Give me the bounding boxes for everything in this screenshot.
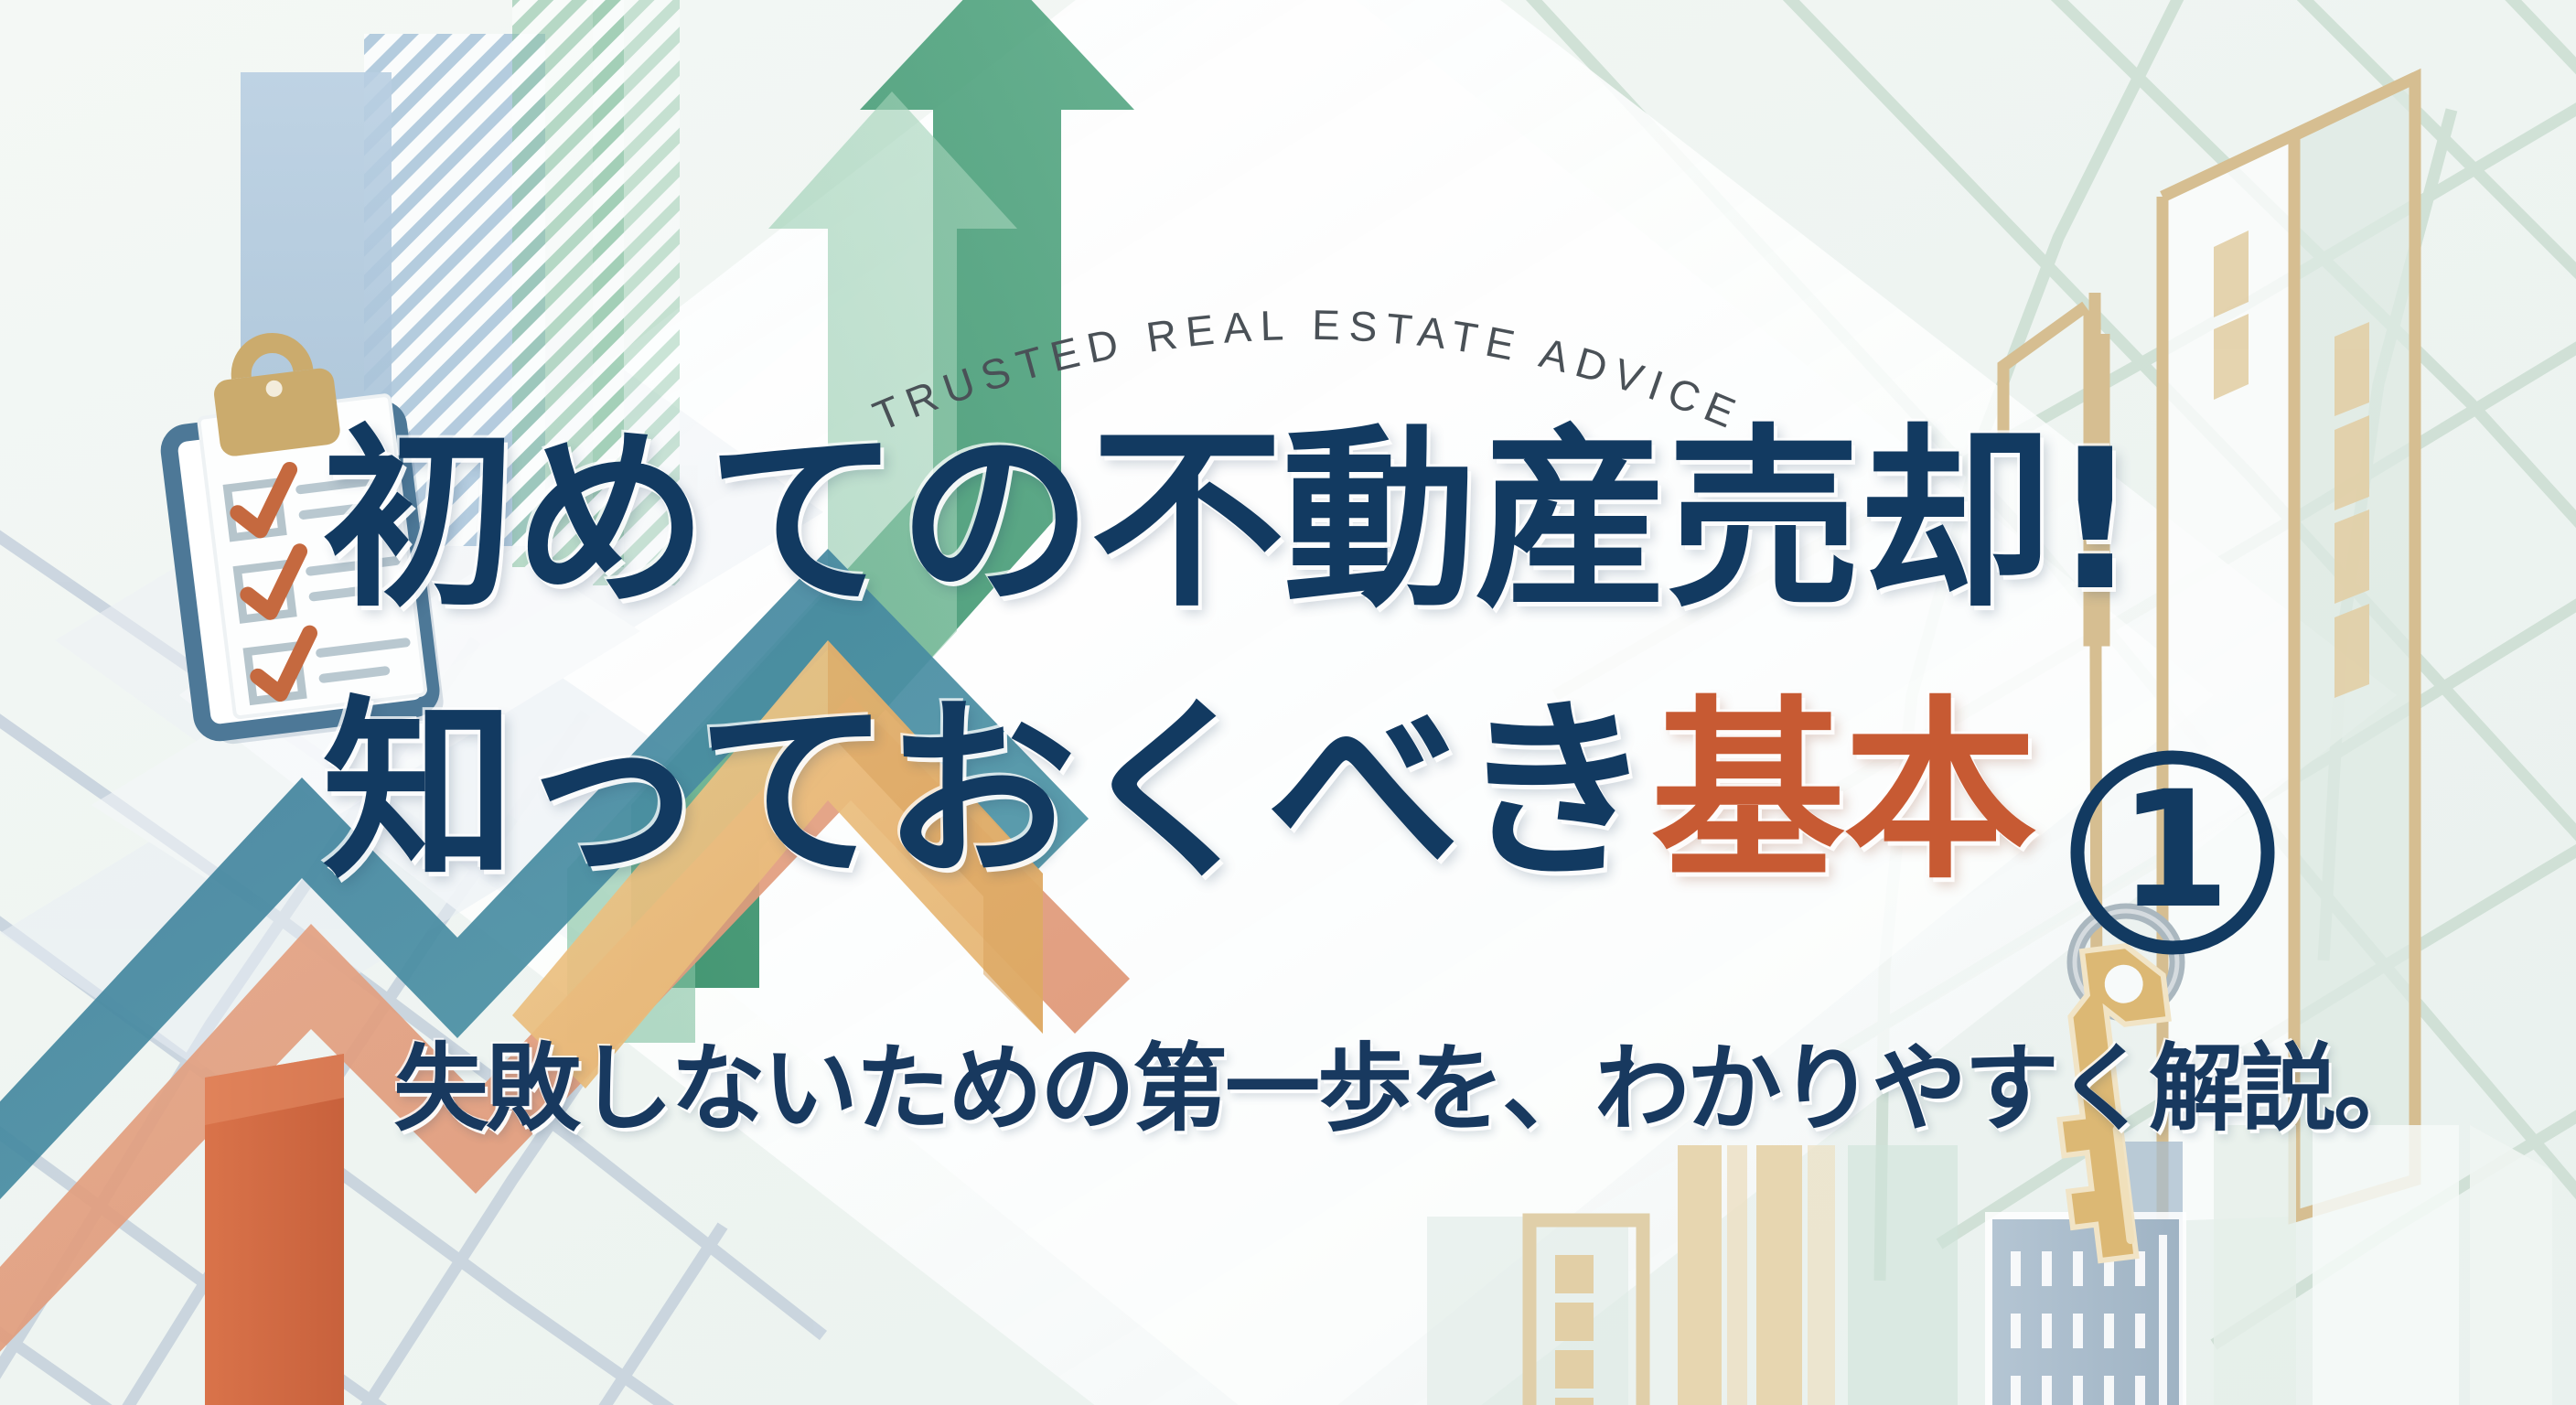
- bar-orange-angled: [205, 1054, 344, 1405]
- background-art: [0, 0, 2576, 1405]
- banner-canvas: TRUSTED REAL ESTATE ADVICE 初めての不動産売却! 知っ…: [0, 0, 2576, 1405]
